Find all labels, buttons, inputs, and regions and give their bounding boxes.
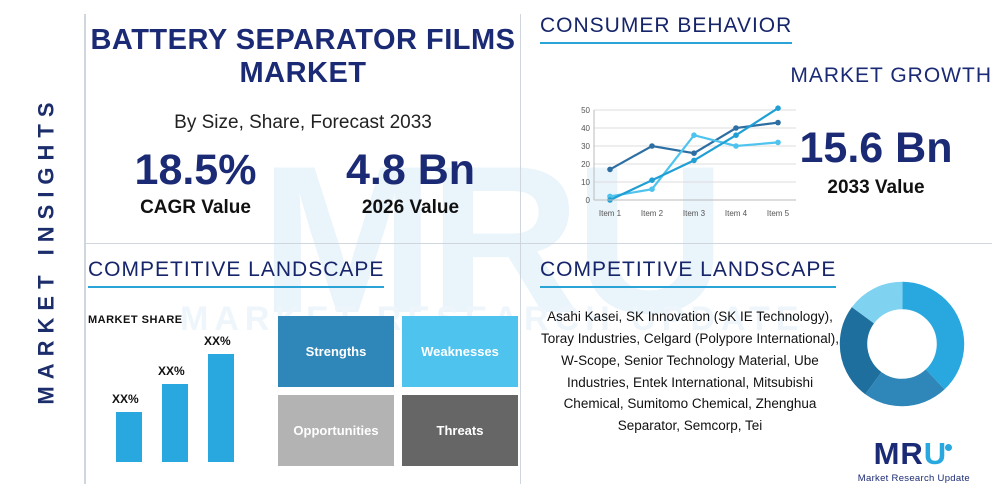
- page-title: BATTERY SEPARATOR FILMS MARKET: [88, 24, 518, 90]
- svg-text:0: 0: [586, 196, 591, 205]
- swot-opportunities-label: Opportunities: [293, 423, 378, 438]
- bar-3: [208, 354, 234, 462]
- logo-mr: MR: [874, 436, 924, 471]
- bar-chart: XX% XX% XX%: [98, 332, 258, 462]
- stat-2026: 4.8 Bn 2026 Value: [303, 148, 518, 219]
- swot-opportunities: Opportunities: [278, 395, 394, 466]
- panel-top-right: CONSUMER BEHAVIOR MARKET GROWTH 50 40 30…: [540, 14, 992, 234]
- page-subtitle: By Size, Share, Forecast 2033: [88, 112, 518, 134]
- company-list: Asahi Kasei, SK Innovation (SK IE Techno…: [540, 306, 840, 437]
- stat-cagr-value: 18.5%: [88, 148, 303, 193]
- svg-text:Item 5: Item 5: [767, 209, 790, 218]
- bar-1-label: XX%: [112, 392, 139, 406]
- stat-2026-caption: 2026 Value: [303, 197, 518, 219]
- svg-text:Item 3: Item 3: [683, 209, 706, 218]
- divider-vertical-middle: [520, 14, 521, 484]
- competitive-landscape-heading-right: COMPETITIVE LANDSCAPE: [540, 258, 836, 288]
- key-stats: 18.5% CAGR Value 4.8 Bn 2026 Value: [88, 148, 518, 219]
- swot-weaknesses-label: Weaknesses: [421, 344, 499, 359]
- consumer-behavior-heading: CONSUMER BEHAVIOR: [540, 14, 792, 44]
- donut-chart-svg: [838, 280, 966, 408]
- swot-strengths-label: Strengths: [306, 344, 367, 359]
- swot-threats: Threats: [402, 395, 518, 466]
- competitive-landscape-heading-left: COMPETITIVE LANDSCAPE: [88, 258, 384, 288]
- stat-2026-value: 4.8 Bn: [303, 148, 518, 193]
- divider-horizontal: [84, 243, 992, 244]
- logo-tagline: Market Research Update: [858, 473, 970, 484]
- side-label: MARKET INSIGHTS: [12, 0, 82, 500]
- panel-bottom-right: COMPETITIVE LANDSCAPE Asahi Kasei, SK In…: [540, 258, 992, 488]
- panel-bottom-left: COMPETITIVE LANDSCAPE MARKET SHARE XX% X…: [88, 258, 518, 488]
- bar-1: [116, 412, 142, 462]
- logo-dot-icon: [945, 444, 952, 451]
- logo-u: U: [924, 436, 947, 471]
- bar-2-label: XX%: [158, 364, 185, 378]
- swot-weaknesses: Weaknesses: [402, 316, 518, 387]
- svg-text:Item 1: Item 1: [599, 209, 622, 218]
- bar-2: [162, 384, 188, 462]
- svg-text:Item 2: Item 2: [641, 209, 664, 218]
- swot-threats-label: Threats: [437, 423, 484, 438]
- svg-text:Item 4: Item 4: [725, 209, 748, 218]
- svg-text:30: 30: [581, 142, 590, 151]
- svg-text:40: 40: [581, 124, 590, 133]
- logo: MRU Market Research Update: [858, 436, 970, 484]
- stat-2033-caption: 2033 Value: [766, 177, 986, 199]
- logo-wordmark: MRU: [858, 436, 970, 472]
- swot-strengths: Strengths: [278, 316, 394, 387]
- bar-3-label: XX%: [204, 334, 231, 348]
- svg-text:10: 10: [581, 178, 590, 187]
- stat-2033-value: 15.6 Bn: [766, 124, 986, 173]
- market-growth-label: MARKET GROWTH: [790, 64, 992, 88]
- stat-2033: 15.6 Bn 2033 Value: [766, 124, 986, 199]
- line-chart: 50 40 30 20 10 0 Item 1 Item 2 Item 3 It…: [568, 102, 798, 232]
- divider-vertical-left: [84, 14, 86, 484]
- svg-text:50: 50: [581, 106, 590, 115]
- panel-top-left: BATTERY SEPARATOR FILMS MARKET By Size, …: [88, 12, 518, 234]
- stat-cagr-caption: CAGR Value: [88, 197, 303, 219]
- swot-grid: Strengths Weaknesses Opportunities Threa…: [278, 316, 518, 466]
- side-label-text: MARKET INSIGHTS: [34, 95, 60, 404]
- donut-chart: [838, 280, 966, 408]
- stat-cagr: 18.5% CAGR Value: [88, 148, 303, 219]
- svg-text:20: 20: [581, 160, 590, 169]
- line-chart-svg: 50 40 30 20 10 0 Item 1 Item 2 Item 3 It…: [568, 102, 798, 232]
- infographic-frame: MARKET INSIGHTS BATTERY SEPARATOR FILMS …: [0, 0, 1000, 500]
